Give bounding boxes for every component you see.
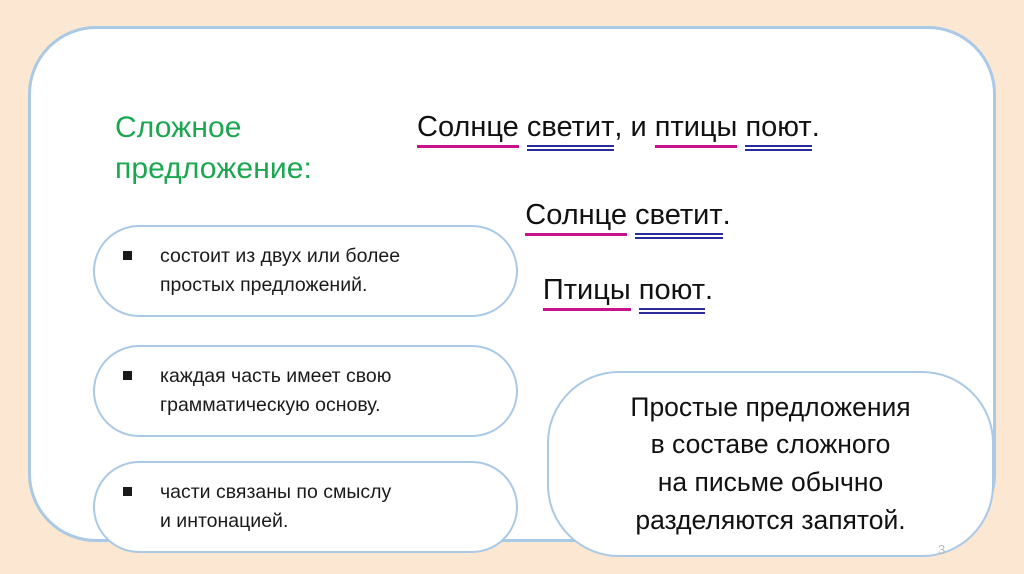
predicate-word: поют <box>745 113 811 142</box>
example-compound-sentence: Солнце светит, и птицы поют. <box>417 113 820 142</box>
predicate-word: светит <box>635 201 723 230</box>
subject-word: Солнце <box>525 201 627 230</box>
subject-word: Птицы <box>543 276 631 305</box>
sentence-period: . <box>705 274 713 306</box>
subject-word: Солнце <box>417 113 519 142</box>
space <box>519 111 527 143</box>
space <box>631 274 639 306</box>
sentence-period: . <box>723 199 731 231</box>
summary-line-2: в составе сложного <box>630 426 910 464</box>
summary-box: Простые предложения в составе сложного н… <box>547 371 994 557</box>
conjunction-text: , и <box>614 111 654 143</box>
feature-text: каждая часть имеет свою грамматическую о… <box>160 362 490 420</box>
feature-text-line-1: части связаны по смыслу <box>160 478 490 507</box>
predicate-word: поют <box>639 276 705 305</box>
space <box>737 111 745 143</box>
subject-word: птицы <box>655 113 738 142</box>
slide-number: 3 <box>938 542 945 557</box>
square-bullet-icon <box>123 251 132 260</box>
space <box>627 199 635 231</box>
square-bullet-icon <box>123 371 132 380</box>
feature-pill-connection: части связаны по смыслу и интонацией. <box>93 461 518 553</box>
feature-text-line-1: состоит из двух или более <box>160 242 490 271</box>
example-simple-sentence-1: Солнце светит. <box>31 201 1024 230</box>
page-title-line-1: Сложное <box>115 107 415 148</box>
square-bullet-icon <box>123 487 132 496</box>
sentence-period: . <box>812 111 820 143</box>
feature-pill-grammatical-base: каждая часть имеет свою грамматическую о… <box>93 345 518 437</box>
predicate-word: светит <box>527 113 615 142</box>
summary-line-1: Простые предложения <box>630 389 910 427</box>
summary-line-3: на письме обычно <box>630 464 910 502</box>
page-title-line-2: предложение: <box>115 148 415 189</box>
feature-text-line-1: каждая часть имеет свою <box>160 362 490 391</box>
summary-line-4: разделяются запятой. <box>630 502 910 540</box>
slide-panel: Сложное предложение: состоит из двух или… <box>28 26 996 542</box>
page-title: Сложное предложение: <box>115 107 415 189</box>
feature-text-line-2: грамматическую основу. <box>160 391 490 420</box>
feature-text: части связаны по смыслу и интонацией. <box>160 478 490 536</box>
feature-text-line-2: и интонацией. <box>160 507 490 536</box>
example-simple-sentence-2: Птицы поют. <box>31 276 1024 305</box>
summary-text: Простые предложения в составе сложного н… <box>630 389 910 540</box>
